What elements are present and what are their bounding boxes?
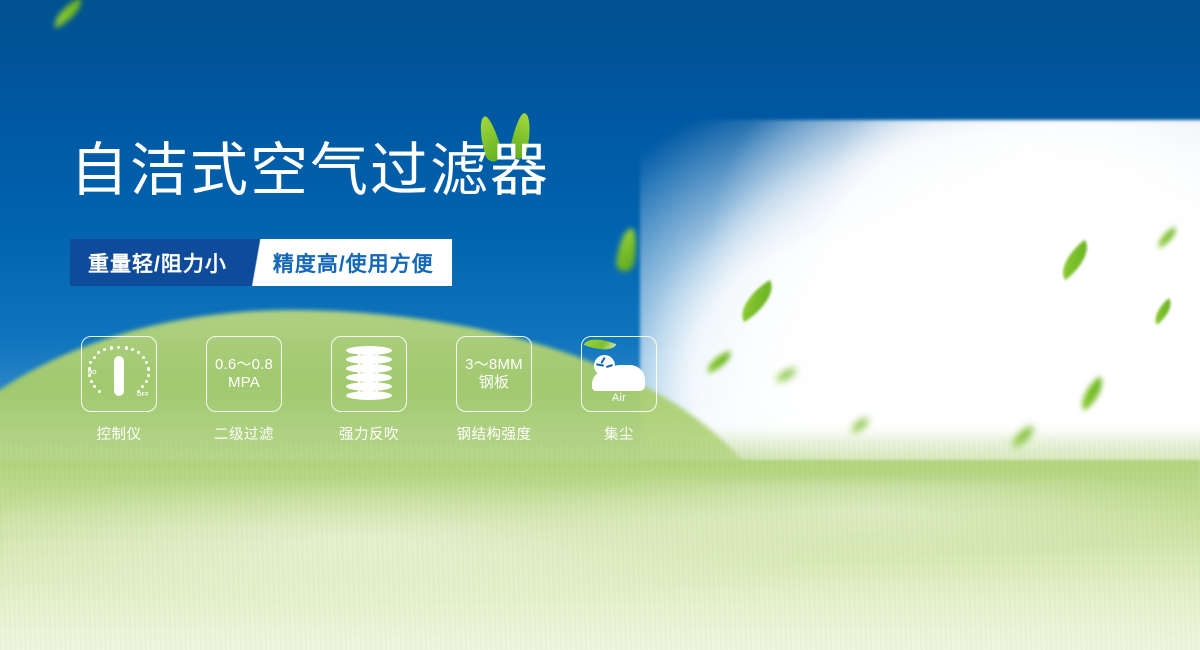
tagline-divider: [247, 239, 269, 286]
steel-value-line1: 3〜8MM: [465, 356, 523, 374]
feature-box-steel: 3〜8MM 钢板: [456, 336, 532, 412]
feature-box-filtration: 0.6〜0.8 MPA: [206, 336, 282, 412]
steel-value-line2: 钢板: [465, 374, 523, 392]
pressure-value-line2: MPA: [215, 374, 273, 392]
steel-plate-text-icon: 3〜8MM 钢板: [465, 356, 523, 391]
feature-label-blowback: 强力反吹: [339, 423, 399, 444]
feature-box-dust: Air: [581, 336, 657, 412]
gauge-label-no: NO: [88, 370, 97, 376]
feature-label-control: 控制仪: [97, 423, 142, 444]
grass-texture: [0, 440, 1200, 650]
page-title: 自洁式空气过滤器: [70, 142, 550, 200]
gauge-needle-icon: [114, 356, 124, 396]
feature-label-steel: 钢结构强度: [457, 423, 532, 444]
gauge-icon: NO OFF: [88, 343, 150, 405]
cloud-air-label: Air: [591, 392, 647, 404]
cloud-air-icon: Air: [591, 348, 647, 400]
feature-item-control[interactable]: NO OFF 控制仪: [82, 336, 156, 444]
coil-stack-icon: [346, 346, 392, 402]
pressure-text-icon: 0.6〜0.8 MPA: [215, 356, 273, 391]
feature-list: NO OFF 控制仪 0.6〜0.8 MPA 二级过滤: [82, 336, 656, 444]
feature-box-control: NO OFF: [81, 336, 157, 412]
tagline-secondary: 精度高/使用方便: [269, 239, 452, 286]
cloud-leaf-icon: [584, 336, 617, 356]
tagline-banner: 重量轻/阻力小 精度高/使用方便: [70, 239, 452, 286]
cloud-base: [593, 379, 645, 391]
feature-box-blowback: [331, 336, 407, 412]
product-hero-banner: 自洁式空气过滤器 重量轻/阻力小 精度高/使用方便: [0, 0, 1200, 650]
pressure-value-line1: 0.6〜0.8: [215, 356, 273, 374]
feature-item-blowback[interactable]: 强力反吹: [332, 336, 406, 444]
gauge-label-off: OFF: [137, 392, 149, 398]
feature-label-filtration: 二级过滤: [214, 423, 274, 444]
feature-item-dust[interactable]: Air 集尘: [582, 336, 656, 444]
feature-item-steel[interactable]: 3〜8MM 钢板 钢结构强度: [457, 336, 531, 444]
feature-item-filtration[interactable]: 0.6〜0.8 MPA 二级过滤: [207, 336, 281, 444]
tagline-primary: 重量轻/阻力小: [70, 239, 247, 286]
feature-label-dust: 集尘: [604, 423, 634, 444]
